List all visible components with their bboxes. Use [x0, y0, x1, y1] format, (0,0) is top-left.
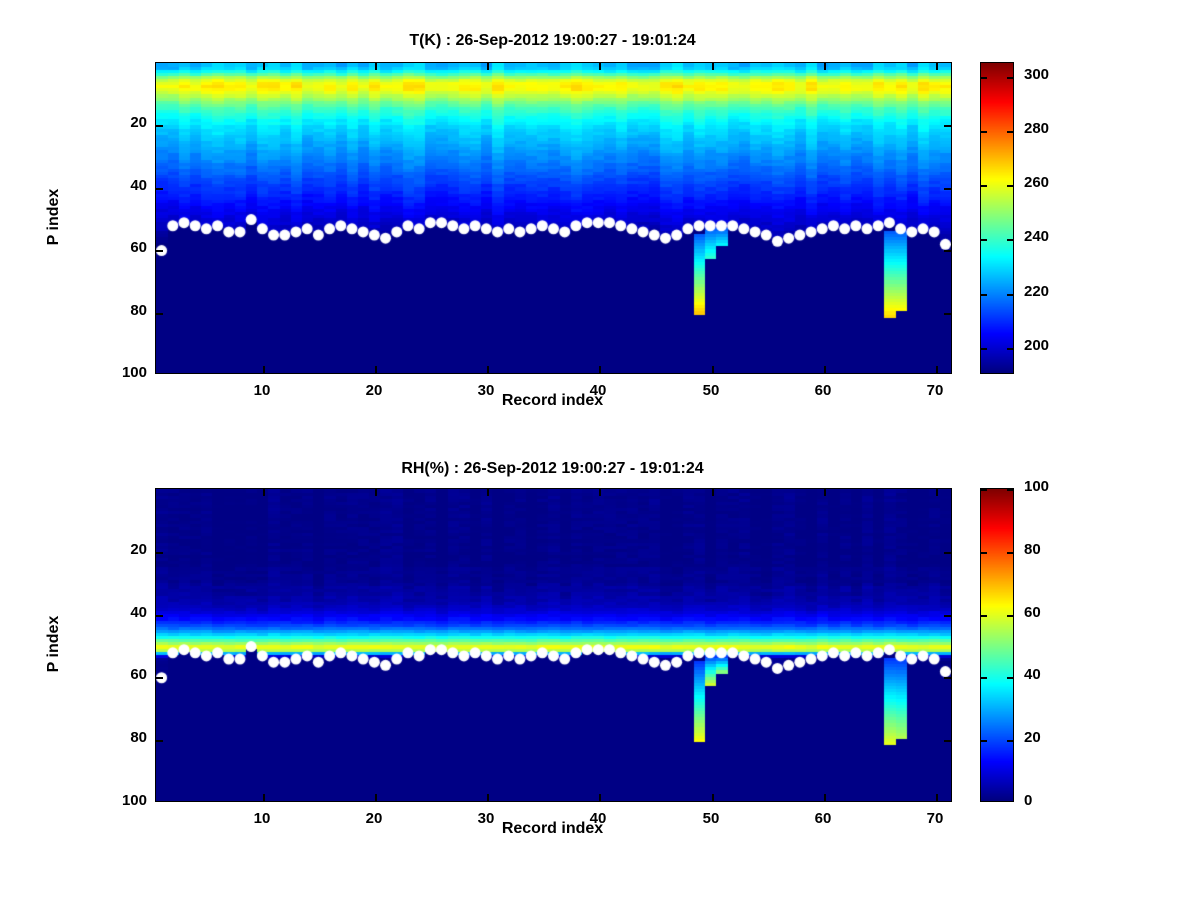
x-tick-mark	[375, 489, 377, 496]
x-tick-mark	[599, 794, 601, 801]
y-tick-label: 40	[101, 604, 147, 621]
colorbar-tick-label: 300	[1024, 66, 1049, 83]
y-tick-mark	[156, 677, 163, 679]
x-tick-mark	[936, 489, 938, 496]
y-tick-label: 100	[101, 792, 147, 809]
colorbar-tick-mark	[981, 677, 987, 679]
colorbar-tick-label: 100	[1024, 478, 1049, 495]
x-tick-mark	[936, 794, 938, 801]
heatmap-image-humidity	[156, 489, 951, 801]
x-tick-label: 70	[910, 382, 960, 399]
x-tick-mark	[712, 794, 714, 801]
y-tick-mark	[944, 677, 951, 679]
colorbar-tick-label: 40	[1024, 666, 1041, 683]
x-tick-mark	[824, 63, 826, 70]
y-tick-mark	[944, 615, 951, 617]
heatmap-axes-temperature	[155, 62, 952, 374]
x-tick-mark	[263, 63, 265, 70]
x-tick-mark	[599, 489, 601, 496]
figure-canvas: T(K) : 26-Sep-2012 19:00:27 - 19:01:24 P…	[0, 0, 1200, 900]
colorbar-tick-mark	[981, 489, 987, 491]
x-tick-mark	[936, 366, 938, 373]
colorbar-tick-label: 280	[1024, 120, 1049, 137]
x-tick-mark	[263, 794, 265, 801]
y-tick-mark	[944, 125, 951, 127]
x-tick-mark	[712, 63, 714, 70]
x-tick-label: 70	[910, 810, 960, 827]
colorbar-tick-label: 20	[1024, 729, 1041, 746]
y-tick-label: 60	[101, 666, 147, 683]
panel-temperature: T(K) : 26-Sep-2012 19:00:27 - 19:01:24 P…	[0, 0, 1200, 450]
y-tick-label: 20	[101, 541, 147, 558]
colorbar-tick-mark	[1007, 77, 1013, 79]
colorbar-tick-label: 260	[1024, 174, 1049, 191]
colorbar-tick-mark	[981, 348, 987, 350]
x-tick-mark	[375, 63, 377, 70]
x-tick-label: 60	[798, 810, 848, 827]
x-tick-label: 10	[237, 810, 287, 827]
colorbar-tick-mark	[1007, 348, 1013, 350]
y-tick-mark	[944, 188, 951, 190]
y-tick-mark	[156, 125, 163, 127]
colorbar-tick-mark	[1007, 489, 1013, 491]
y-tick-mark	[944, 552, 951, 554]
colorbar-tick-mark	[981, 185, 987, 187]
panel-humidity: RH(%) : 26-Sep-2012 19:00:27 - 19:01:24 …	[0, 428, 1200, 878]
x-tick-mark	[599, 366, 601, 373]
x-tick-mark	[824, 489, 826, 496]
colorbar-tick-label: 240	[1024, 228, 1049, 245]
colorbar-tick-mark	[1007, 552, 1013, 554]
x-tick-mark	[712, 489, 714, 496]
colorbar-tick-label: 220	[1024, 283, 1049, 300]
panel-title-temperature: T(K) : 26-Sep-2012 19:00:27 - 19:01:24	[155, 32, 950, 50]
x-tick-label: 30	[461, 810, 511, 827]
colorbar-tick-mark	[1007, 294, 1013, 296]
x-tick-mark	[375, 794, 377, 801]
heatmap-axes-humidity	[155, 488, 952, 802]
y-tick-mark	[156, 250, 163, 252]
y-tick-label: 60	[101, 239, 147, 256]
x-tick-mark	[599, 63, 601, 70]
x-tick-mark	[487, 63, 489, 70]
y-tick-mark	[944, 313, 951, 315]
y-tick-label: 80	[101, 302, 147, 319]
y-tick-mark	[156, 313, 163, 315]
colorbar-tick-mark	[1007, 740, 1013, 742]
y-tick-mark	[944, 740, 951, 742]
colorbar-tick-mark	[1007, 677, 1013, 679]
colorbar-tick-label: 60	[1024, 604, 1041, 621]
x-tick-label: 10	[237, 382, 287, 399]
y-tick-label: 80	[101, 729, 147, 746]
colorbar-tick-mark	[1007, 239, 1013, 241]
x-tick-mark	[487, 366, 489, 373]
x-tick-label: 30	[461, 382, 511, 399]
y-axis-label-humidity: P index	[45, 584, 63, 704]
colorbar-tick-label: 80	[1024, 541, 1041, 558]
colorbar-tick-mark	[1007, 615, 1013, 617]
heatmap-image-temperature	[156, 63, 951, 373]
x-tick-mark	[824, 794, 826, 801]
panel-title-humidity: RH(%) : 26-Sep-2012 19:00:27 - 19:01:24	[155, 460, 950, 478]
x-tick-label: 20	[349, 810, 399, 827]
x-tick-label: 20	[349, 382, 399, 399]
colorbar-tick-label: 200	[1024, 337, 1049, 354]
y-tick-label: 20	[101, 114, 147, 131]
y-tick-mark	[156, 615, 163, 617]
y-tick-mark	[944, 250, 951, 252]
colorbar-tick-label: 0	[1024, 792, 1032, 809]
x-tick-label: 40	[573, 382, 623, 399]
colorbar-tick-mark	[1007, 185, 1013, 187]
colorbar-gradient-humidity	[981, 489, 1013, 801]
colorbar-temperature	[980, 62, 1014, 374]
x-tick-mark	[487, 489, 489, 496]
y-tick-mark	[156, 552, 163, 554]
x-tick-mark	[936, 63, 938, 70]
colorbar-tick-mark	[981, 615, 987, 617]
y-axis-label-temperature: P index	[45, 157, 63, 277]
y-tick-mark	[156, 740, 163, 742]
x-tick-mark	[712, 366, 714, 373]
colorbar-gradient-temperature	[981, 63, 1013, 373]
y-tick-label: 40	[101, 177, 147, 194]
x-tick-mark	[824, 366, 826, 373]
colorbar-tick-mark	[981, 239, 987, 241]
x-tick-mark	[375, 366, 377, 373]
colorbar-tick-mark	[981, 294, 987, 296]
colorbar-tick-mark	[981, 77, 987, 79]
colorbar-tick-mark	[981, 740, 987, 742]
x-tick-label: 60	[798, 382, 848, 399]
colorbar-tick-mark	[1007, 131, 1013, 133]
x-tick-label: 50	[686, 810, 736, 827]
x-tick-label: 40	[573, 810, 623, 827]
colorbar-humidity	[980, 488, 1014, 802]
x-tick-mark	[263, 366, 265, 373]
x-tick-label: 50	[686, 382, 736, 399]
colorbar-tick-mark	[981, 552, 987, 554]
y-tick-label: 100	[101, 364, 147, 381]
y-tick-mark	[156, 188, 163, 190]
colorbar-tick-mark	[981, 131, 987, 133]
x-tick-mark	[487, 794, 489, 801]
x-tick-mark	[263, 489, 265, 496]
